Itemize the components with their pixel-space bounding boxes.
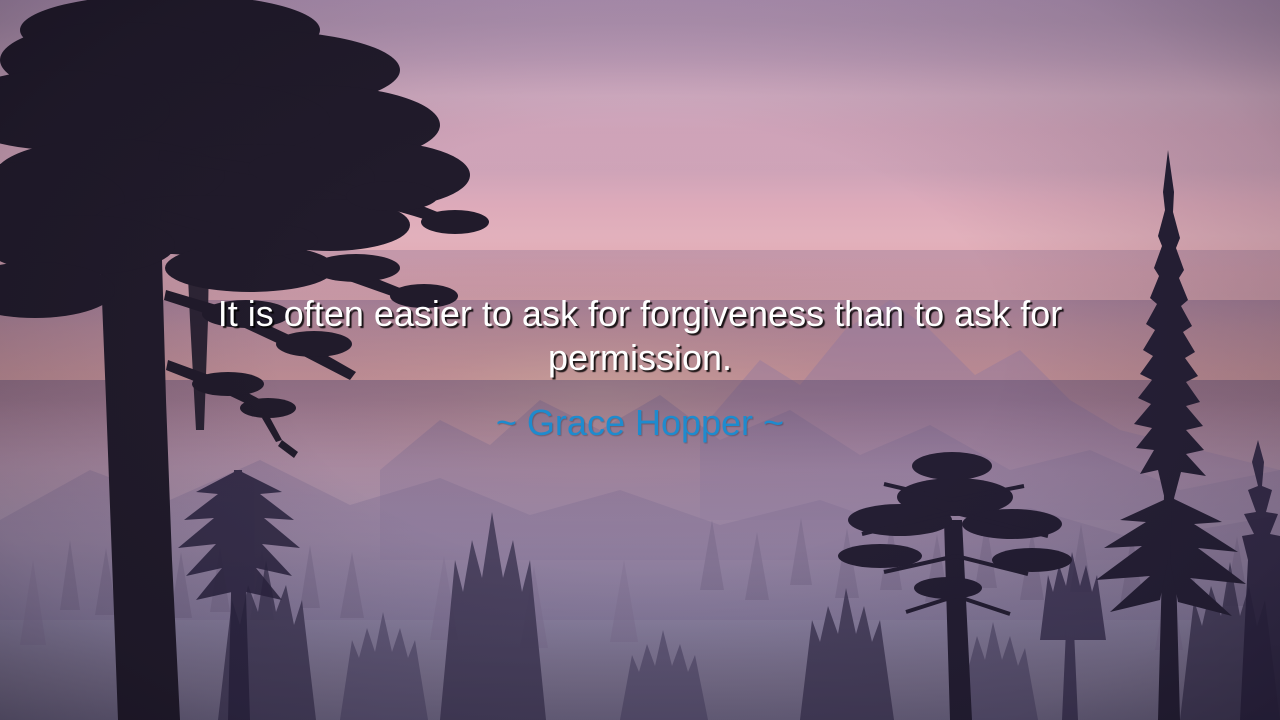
quote-wallpaper: It is often easier to ask for forgivenes…: [0, 0, 1280, 720]
quote-text: It is often easier to ask for forgivenes…: [160, 292, 1120, 380]
quote-author: ~ Grace Hopper ~: [160, 402, 1120, 444]
quote-block: It is often easier to ask for forgivenes…: [0, 292, 1280, 444]
